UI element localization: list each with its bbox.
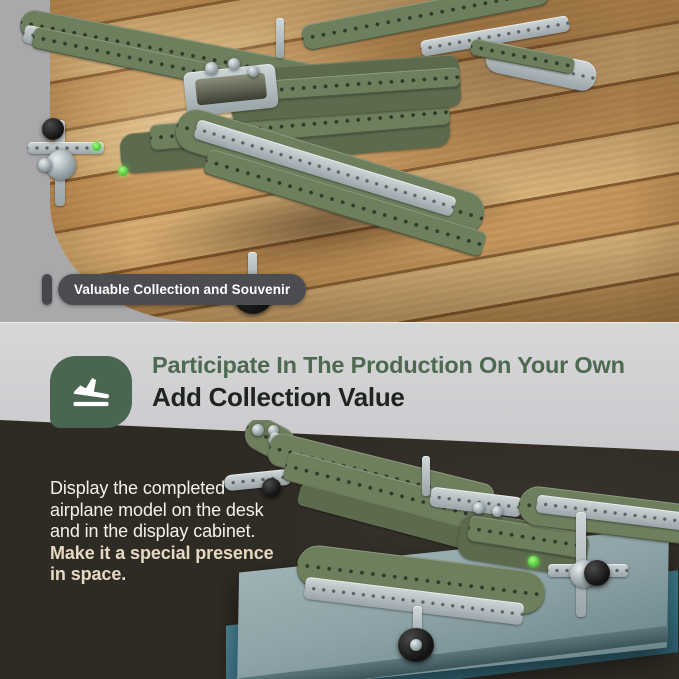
description-plain: Display the completed airplane model on …	[50, 478, 264, 541]
caption-accent-bar	[42, 274, 52, 305]
description-emphasis: Make it a special presence in space.	[50, 543, 274, 585]
headline-primary: Participate In The Production On Your Ow…	[152, 350, 625, 380]
bottom-product-photo	[218, 420, 679, 679]
caption-badge: Valuable Collection and Souvenir	[42, 274, 306, 305]
airplane-takeoff-icon-badge	[50, 356, 132, 428]
caption-pill: Valuable Collection and Souvenir	[58, 274, 306, 305]
model-airplane-bottom	[218, 420, 679, 679]
feature-description: Display the completed airplane model on …	[50, 478, 282, 586]
headline-secondary: Add Collection Value	[152, 380, 625, 414]
headline-group: Participate In The Production On Your Ow…	[152, 350, 625, 414]
airplane-takeoff-icon	[68, 375, 114, 409]
band-top-hairline	[0, 322, 679, 323]
caption-text: Valuable Collection and Souvenir	[74, 282, 290, 297]
product-feature-panel: Valuable Collection and Souvenir	[0, 0, 679, 679]
